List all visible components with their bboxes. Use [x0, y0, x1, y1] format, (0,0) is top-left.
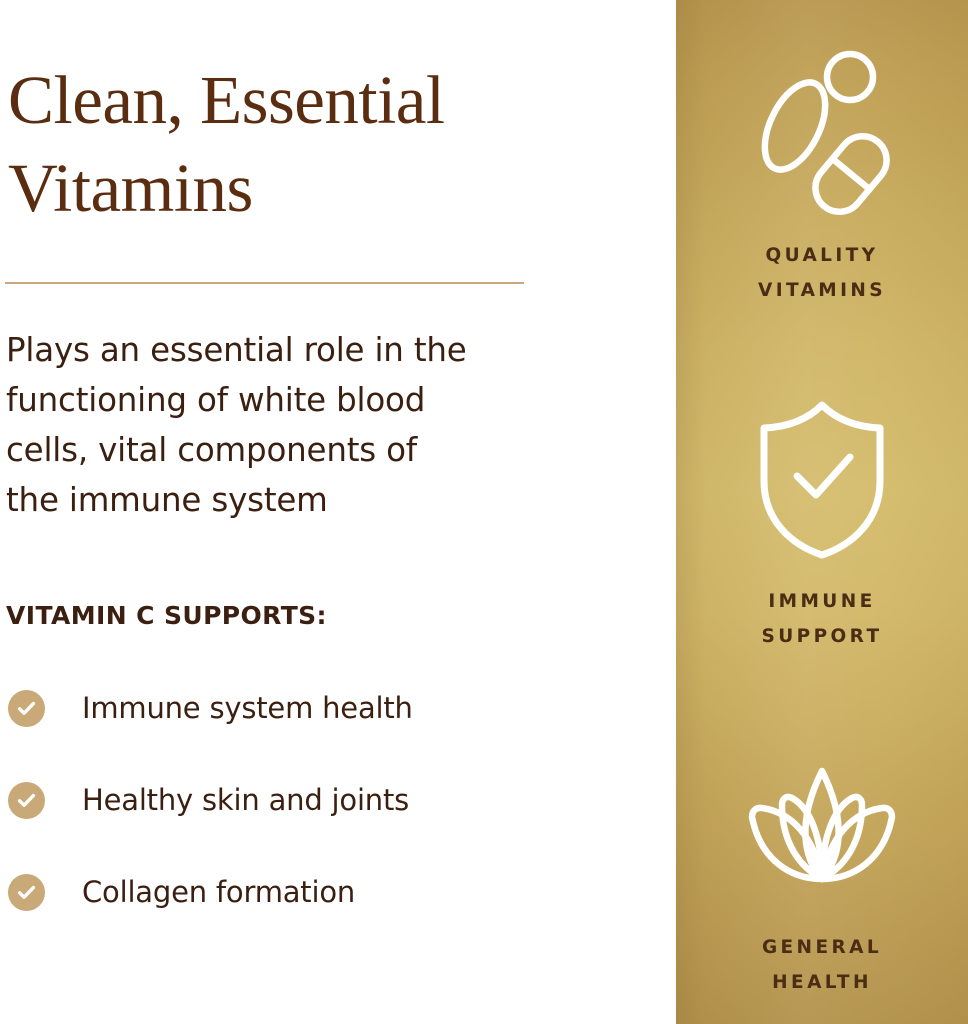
intro-line-2: functioning of white blood	[6, 375, 566, 425]
intro-line-1: Plays an essential role in the	[6, 325, 566, 375]
list-item-label: Healthy skin and joints	[82, 786, 409, 815]
list-item-label: Immune system health	[82, 694, 413, 723]
feature-caption: QUALITY VITAMINS	[758, 238, 886, 308]
intro-line-3: cells, vital components of	[6, 425, 566, 475]
intro-paragraph: Plays an essential role in the functioni…	[6, 325, 566, 525]
feature-caption-line-1: QUALITY	[758, 238, 886, 273]
lotus-flower-icon	[738, 738, 906, 914]
product-feature-banner: Clean, Essential Vitamins Plays an essen…	[0, 0, 968, 1024]
list-item-label: Collagen formation	[82, 878, 355, 907]
page-title-line-1: Clean, Essential	[8, 56, 628, 144]
feature-caption-line-2: HEALTH	[762, 965, 882, 1000]
feature-caption: GENERAL HEALTH	[762, 930, 882, 1000]
benefit-list: Immune system health Healthy skin and jo…	[8, 688, 628, 912]
left-content-pane: Clean, Essential Vitamins Plays an essen…	[0, 0, 676, 1024]
feature-caption-line-2: SUPPORT	[761, 619, 882, 654]
feature-caption-line-1: IMMUNE	[761, 584, 882, 619]
feature-caption-line-1: GENERAL	[762, 930, 882, 965]
title-divider	[5, 282, 524, 284]
list-item: Healthy skin and joints	[8, 780, 628, 820]
feature-sidebar: QUALITY VITAMINS IMMUNE SUPPORT	[676, 0, 968, 1024]
feature-general-health: GENERAL HEALTH	[676, 738, 968, 1000]
feature-quality-vitamins: QUALITY VITAMINS	[676, 46, 968, 308]
feature-caption-line-2: VITAMINS	[758, 273, 886, 308]
feature-immune-support: IMMUNE SUPPORT	[676, 392, 968, 654]
pills-icon	[747, 46, 897, 222]
check-circle-icon	[8, 690, 45, 727]
check-circle-icon	[8, 874, 45, 911]
page-title: Clean, Essential Vitamins	[8, 56, 628, 233]
feature-caption: IMMUNE SUPPORT	[761, 584, 882, 654]
list-item: Collagen formation	[8, 872, 628, 912]
shield-check-icon	[752, 392, 892, 568]
intro-line-4: the immune system	[6, 475, 566, 525]
page-title-line-2: Vitamins	[8, 144, 628, 232]
list-item: Immune system health	[8, 688, 628, 728]
supports-heading: VITAMIN C SUPPORTS:	[6, 601, 327, 630]
check-circle-icon	[8, 782, 45, 819]
